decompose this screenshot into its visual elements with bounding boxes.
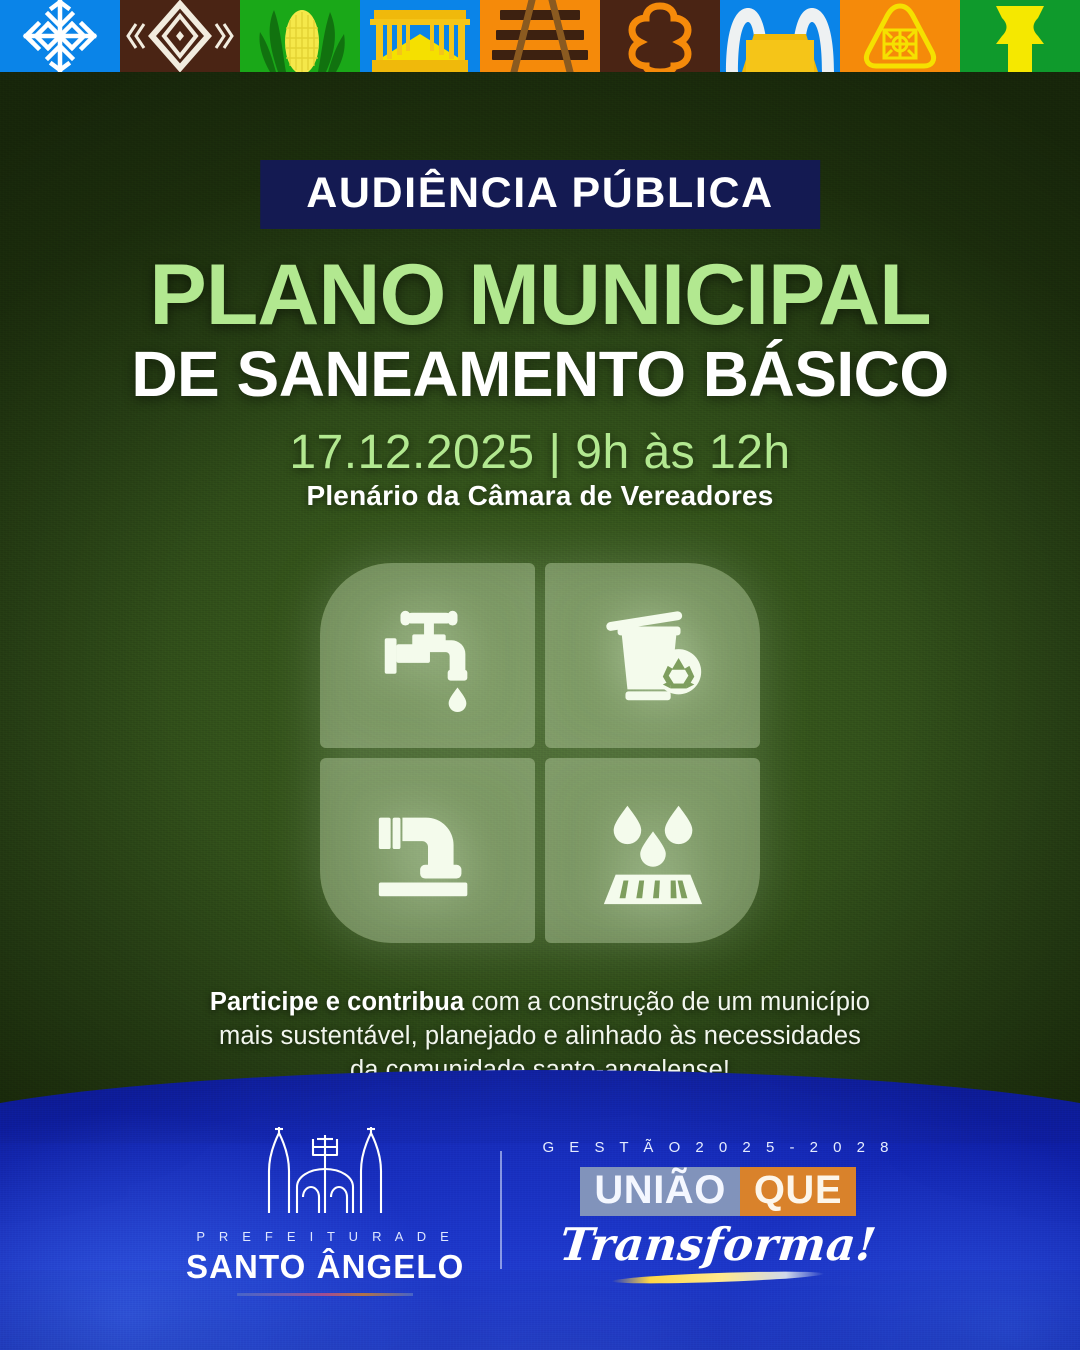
guarani-emblem-icon: [840, 0, 960, 72]
sewage-pipe-icon: [369, 792, 487, 910]
uniao-word: UNIÃO: [580, 1167, 739, 1216]
poster-canvas: AUDIÊNCIA PÚBLICA PLANO MUNICIPAL DE SAN…: [0, 0, 1080, 1350]
cta-line2: mais sustentável, planejado e alinhado à…: [0, 1019, 1080, 1053]
prefeitura-logo: P R E F E I T U R A D E SANTO ÂNGELO: [186, 1125, 500, 1296]
tile-corn: [240, 0, 360, 72]
cultural-icon-strip: [0, 0, 1080, 72]
cta-lead: Participe e contribua: [210, 988, 464, 1016]
railroad-track-icon: [480, 0, 600, 72]
swoosh-underline: [612, 1269, 824, 1285]
tile-guarani-emblem: [840, 0, 960, 72]
page-title-line1: PLANO MUNICIPAL: [0, 252, 1080, 338]
stone-column-icon: [960, 0, 1080, 72]
mission-ruins-icon: [360, 0, 480, 72]
banner-label: AUDIÊNCIA PÚBLICA: [306, 172, 774, 215]
prefeitura-name: SANTO ÂNGELO: [186, 1248, 464, 1286]
tile-column: [960, 0, 1080, 72]
audiencia-publica-banner: AUDIÊNCIA PÚBLICA: [260, 160, 820, 229]
gestao-logo: G E S T Ã O 2 0 2 5 - 2 0 2 8 UNIÃO QUE …: [502, 1139, 894, 1282]
panel-solid-waste: [545, 563, 760, 748]
tile-railroad: [480, 0, 600, 72]
tile-mission-ruins: [360, 0, 480, 72]
event-venue: Plenário da Câmara de Vereadores: [0, 480, 1080, 512]
sanitation-pillars-cluster: [320, 563, 760, 943]
tile-mission-cross: [600, 0, 720, 72]
faucet-water-drop-icon: [369, 597, 487, 715]
gestao-period: G E S T Ã O 2 0 2 5 - 2 0 2 8: [542, 1139, 894, 1156]
tile-guarani-diamond: [120, 0, 240, 72]
que-word: QUE: [740, 1167, 856, 1216]
church-silhouette-icon: [235, 1125, 415, 1217]
prefeitura-subtitle: P R E F E I T U R A D E: [196, 1229, 454, 1244]
panel-drainage: [545, 758, 760, 943]
mission-cross-icon: [600, 0, 720, 72]
tile-indigenous-arrows: [0, 0, 120, 72]
page-title-line2: DE SANEAMENTO BÁSICO: [0, 342, 1080, 406]
cta-line1-rest: com a construção de um município: [464, 988, 870, 1016]
panel-sewage: [320, 758, 535, 943]
footer-logos: P R E F E I T U R A D E SANTO ÂNGELO G E…: [0, 1070, 1080, 1350]
event-datetime: 17.12.2025 | 9h às 12h: [0, 428, 1080, 478]
tile-cathedral-arches: [720, 0, 840, 72]
indigenous-arrow-pattern-icon: [0, 0, 120, 72]
panel-water-supply: [320, 563, 535, 748]
storm-drain-raindrops-icon: [594, 792, 712, 910]
trash-bin-recycling-icon: [594, 597, 712, 715]
cathedral-arches-icon: [720, 0, 840, 72]
uniao-que-wordmark: UNIÃO QUE: [580, 1167, 856, 1216]
guarani-diamond-pattern-icon: [120, 0, 240, 72]
transforma-word: Transforma!: [557, 1218, 879, 1271]
prefeitura-rule: [237, 1293, 413, 1296]
corn-cob-icon: [240, 0, 360, 72]
